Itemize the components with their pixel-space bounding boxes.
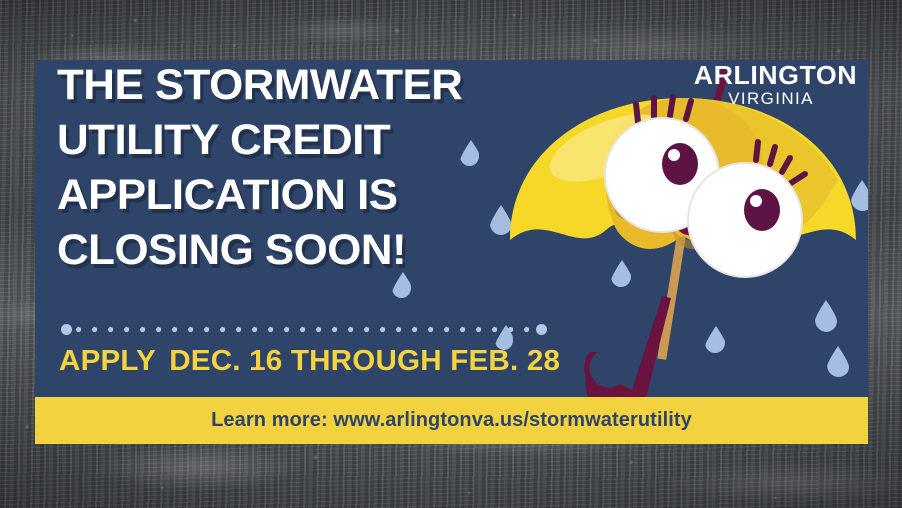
logo-name: ARLINGTON [694,61,849,89]
dotted-divider [61,324,547,335]
pupil-left [662,143,698,185]
headline-line-4: CLOSING SOON! [57,223,587,278]
apply-emphasis: APPLY [59,345,156,377]
navy-content-card: THE STORMWATER UTILITY CREDIT APPLICATIO… [35,60,868,444]
learn-more-text[interactable]: Learn more: www.arlingtonva.us/stormwate… [211,409,692,432]
divider-end-dot-left [61,324,72,335]
logo-state: VIRGINIA [696,89,846,109]
banner-graphic: THE STORMWATER UTILITY CREDIT APPLICATIO… [0,0,902,508]
headline-line-2: UTILITY CREDIT [57,113,587,168]
headline-line-3: APPLICATION IS [57,168,587,223]
apply-line: APPLYDEC. 16 THROUGH FEB. 28 [59,345,560,378]
headline-line-1: THE STORMWATER [57,60,587,113]
divider-dots [76,327,532,332]
learn-more-bar: Learn more: www.arlingtonva.us/stormwate… [35,397,868,444]
divider-end-dot-right [536,324,547,335]
headline-block: THE STORMWATER UTILITY CREDIT APPLICATIO… [57,60,577,278]
arlington-logo: ARLINGTON VIRGINIA [696,60,846,109]
pupil-right [744,189,780,231]
apply-dates: DEC. 16 THROUGH FEB. 28 [169,345,560,377]
